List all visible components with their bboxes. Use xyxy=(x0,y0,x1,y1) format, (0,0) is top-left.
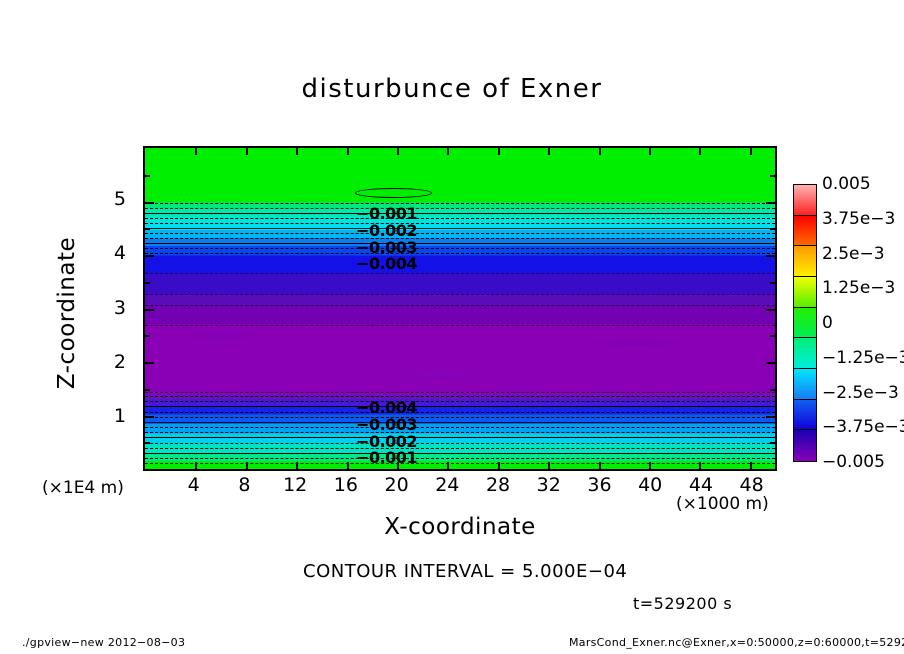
contour-line xyxy=(145,417,775,418)
y-tick-right xyxy=(766,202,775,204)
colorbar-segment-cyan-blue xyxy=(794,369,816,400)
contour-line xyxy=(145,448,775,449)
contour-line xyxy=(145,213,775,214)
contour-interval-text: CONTOUR INTERVAL = 5.000E−04 xyxy=(303,561,627,582)
contour-value-label: −0.001 xyxy=(356,448,417,467)
x-axis-title: X-coordinate xyxy=(143,514,777,540)
band-separator xyxy=(145,305,775,306)
x-tick-top xyxy=(447,148,449,155)
y-tick-right xyxy=(766,416,775,418)
y-tick xyxy=(145,362,154,364)
contour-line xyxy=(145,422,775,423)
x-tick xyxy=(296,462,298,469)
y-tick-right xyxy=(766,309,775,311)
contour-line xyxy=(145,443,775,444)
scalar-field: −0.001−0.002−0.003−0.004 −0.004−0.003−0.… xyxy=(145,148,775,469)
y-tick xyxy=(145,282,150,284)
contour-line xyxy=(145,238,775,239)
y-tick xyxy=(145,202,154,204)
footer-command-text: ./gpview−new 2012−08−03 xyxy=(22,636,185,649)
colorbar-segment-green xyxy=(794,308,816,339)
contour-line xyxy=(145,406,775,407)
x-tick xyxy=(649,462,651,469)
colorbar-tick-label: −2.5e−3 xyxy=(822,383,899,403)
x-tick xyxy=(699,462,701,469)
colorbar-segment-green-cyan xyxy=(794,338,816,369)
y-axis-title: Z-coordinate xyxy=(54,198,80,428)
footer-source-text: MarsCond_Exner.nc@Exner,x=0:50000,z=0:60… xyxy=(569,636,904,649)
y-tick xyxy=(145,255,154,257)
time-stamp-text: t=529200 s xyxy=(633,594,732,613)
x-tick-top xyxy=(750,148,752,155)
x-tick xyxy=(498,462,500,469)
x-tick-top xyxy=(649,148,651,155)
y-tick xyxy=(145,175,150,177)
band-separator xyxy=(145,294,775,295)
x-tick xyxy=(195,462,197,469)
colorbar-segment-yellow-green xyxy=(794,277,816,308)
colorbar-segment-blue-purple xyxy=(794,430,816,461)
y-tick-right xyxy=(766,362,775,364)
x-tick-top xyxy=(195,148,197,155)
contour-value-label: −0.004 xyxy=(356,254,417,273)
y-tick-right xyxy=(770,389,775,391)
x-tick xyxy=(750,462,752,469)
y-tick-right xyxy=(770,282,775,284)
contour-plot-frame: −0.001−0.002−0.003−0.004 −0.004−0.003−0.… xyxy=(143,146,777,471)
colorbar-segment-orange-yellow xyxy=(794,246,816,277)
y-tick-label: 1 xyxy=(86,405,126,427)
colorbar-segment-red-orange xyxy=(794,216,816,247)
x-tick-top xyxy=(246,148,248,155)
x-tick xyxy=(548,462,550,469)
contour-line xyxy=(145,233,775,234)
x-tick-top xyxy=(599,148,601,155)
contour-line xyxy=(145,203,775,204)
band-separator xyxy=(145,273,775,274)
colorbar xyxy=(793,184,817,462)
colorbar-segment-pink-red xyxy=(794,185,816,216)
y-tick-right xyxy=(770,175,775,177)
contour-line xyxy=(145,248,775,249)
contour-line xyxy=(145,453,775,454)
contour-line xyxy=(145,223,775,224)
contour-line xyxy=(145,396,775,397)
colorbar-tick-label: −0.005 xyxy=(822,452,885,472)
y-axis-unit: (×1E4 m) xyxy=(42,478,124,498)
colorbar-tick-label: 0.005 xyxy=(822,174,871,194)
upper-contour-band xyxy=(145,201,775,256)
contour-line xyxy=(145,253,775,254)
y-tick-right xyxy=(766,255,775,257)
x-tick xyxy=(246,462,248,469)
x-tick-top xyxy=(699,148,701,155)
y-tick xyxy=(145,228,150,230)
y-tick xyxy=(145,416,154,418)
y-tick-label: 5 xyxy=(86,188,126,210)
contour-line xyxy=(145,458,775,459)
x-tick xyxy=(447,462,449,469)
x-tick-top xyxy=(548,148,550,155)
x-tick-top xyxy=(498,148,500,155)
y-tick-label: 4 xyxy=(86,242,126,264)
lower-contour-band xyxy=(145,394,775,466)
colorbar-tick-label: −3.75e−3 xyxy=(822,417,904,437)
x-tick-top xyxy=(347,148,349,155)
y-tick xyxy=(145,389,150,391)
x-tick xyxy=(347,462,349,469)
y-tick-right xyxy=(770,228,775,230)
colorbar-tick-label: 0 xyxy=(822,313,833,333)
y-tick-label: 3 xyxy=(86,297,126,319)
y-tick-label: 2 xyxy=(86,351,126,373)
x-tick-top xyxy=(296,148,298,155)
y-tick-right xyxy=(770,442,775,444)
y-tick xyxy=(145,442,150,444)
contour-line xyxy=(145,228,775,229)
band-separator xyxy=(145,392,775,393)
colorbar-tick-label: 3.75e−3 xyxy=(822,209,895,229)
contour-line xyxy=(145,437,775,438)
colorbar-tick-label: 2.5e−3 xyxy=(822,244,885,264)
contour-line xyxy=(145,427,775,428)
colorbar-segment-blue xyxy=(794,400,816,431)
contour-line xyxy=(145,463,775,464)
contour-line xyxy=(145,401,775,402)
x-tick-label: 48 xyxy=(722,474,782,496)
colorbar-tick-label: −1.25e−3 xyxy=(822,348,904,368)
field-mottling xyxy=(145,321,775,395)
x-tick xyxy=(599,462,601,469)
contour-line xyxy=(145,218,775,219)
page-title: disturbunce of Exner xyxy=(0,74,904,104)
y-tick-right xyxy=(770,335,775,337)
x-tick-top xyxy=(397,148,399,155)
colorbar-tick-label: 1.25e−3 xyxy=(822,278,895,298)
y-tick xyxy=(145,335,150,337)
contour-line xyxy=(145,208,775,209)
x-tick xyxy=(397,462,399,469)
contour-line xyxy=(145,243,775,244)
x-axis-unit: (×1000 m) xyxy=(676,494,769,514)
y-tick xyxy=(145,309,154,311)
contour-line xyxy=(145,412,775,413)
band-separator xyxy=(145,325,775,326)
contour-line xyxy=(145,432,775,433)
